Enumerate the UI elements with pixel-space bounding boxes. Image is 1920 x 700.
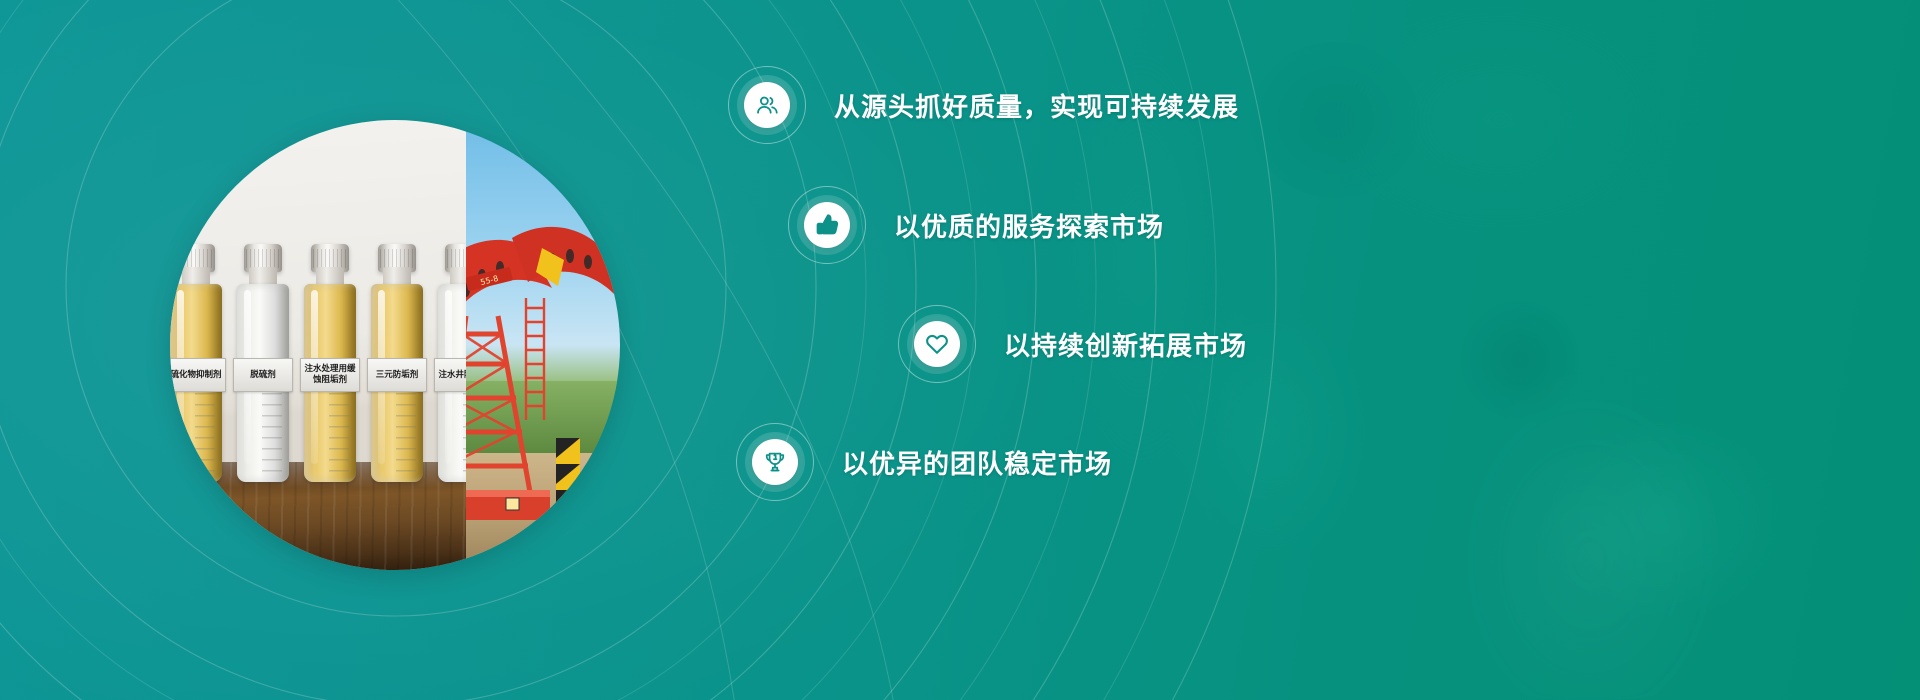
feature-item-3[interactable]: 以持续创新拓展市场 bbox=[898, 305, 1247, 383]
bottle-1: 硫化物抑制剂 bbox=[170, 284, 222, 482]
thumbs-up-icon bbox=[814, 212, 841, 239]
bottle-label: 脱硫剂 bbox=[233, 358, 293, 392]
feature-icon-wrapper bbox=[788, 186, 866, 264]
chemical-bottles-photo: 硫化物抑制剂 脱硫剂 注水处理用缓蚀阻垢剂 bbox=[170, 120, 466, 570]
feature-text: 以优异的团队稳定市场 bbox=[842, 444, 1112, 481]
feature-item-2[interactable]: 以优质的服务探索市场 bbox=[788, 186, 1164, 264]
bottle-label: 注水处理用缓蚀阻垢剂 bbox=[300, 358, 360, 392]
feature-icon-wrapper bbox=[898, 305, 976, 383]
oil-pumpjack-photo: 55-8 bbox=[466, 120, 620, 570]
pumpjack-derrick-icon: 55-8 bbox=[466, 120, 620, 570]
trophy-icon bbox=[762, 449, 788, 475]
promo-banner: 硫化物抑制剂 脱硫剂 注水处理用缓蚀阻垢剂 bbox=[0, 0, 1920, 700]
feature-item-4[interactable]: 以优异的团队稳定市场 bbox=[736, 423, 1112, 501]
bottle-2: 脱硫剂 bbox=[237, 284, 289, 482]
icon-disc bbox=[804, 202, 850, 248]
feature-item-1[interactable]: 从源头抓好质量，实现可持续发展 bbox=[728, 66, 1239, 144]
feature-text: 从源头抓好质量，实现可持续发展 bbox=[834, 87, 1239, 124]
bottle-label: 注水井除垢剂 bbox=[434, 358, 466, 392]
bottle-3: 注水处理用缓蚀阻垢剂 bbox=[304, 284, 356, 482]
icon-disc bbox=[744, 82, 790, 128]
heart-icon bbox=[924, 331, 950, 357]
bottle-4: 三元防垢剂 bbox=[371, 284, 423, 482]
bottle-label: 三元防垢剂 bbox=[367, 358, 427, 392]
feature-text: 以优质的服务探索市场 bbox=[894, 207, 1164, 244]
feature-text: 以持续创新拓展市场 bbox=[1004, 326, 1247, 363]
bottle-5: 注水井除垢剂 bbox=[438, 284, 466, 482]
feature-icon-wrapper bbox=[736, 423, 814, 501]
bottle-label: 硫化物抑制剂 bbox=[170, 358, 226, 392]
product-photo-collage: 硫化物抑制剂 脱硫剂 注水处理用缓蚀阻垢剂 bbox=[170, 120, 620, 570]
icon-disc bbox=[752, 439, 798, 485]
users-icon bbox=[754, 92, 781, 119]
icon-disc bbox=[914, 321, 960, 367]
feature-icon-wrapper bbox=[728, 66, 806, 144]
